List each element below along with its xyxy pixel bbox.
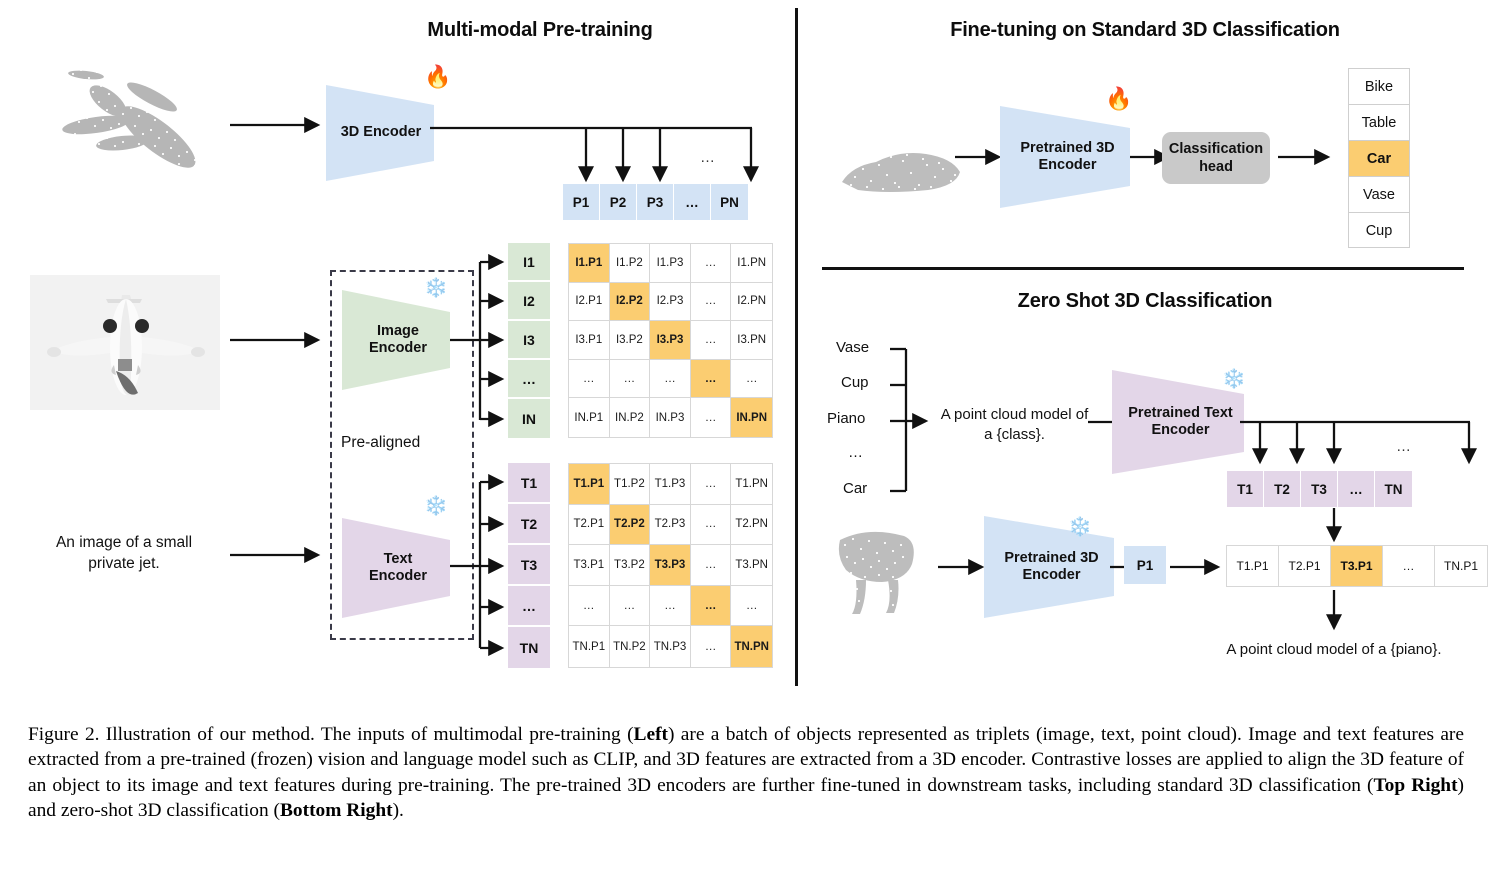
zs-class-name[interactable]: Vase	[836, 338, 869, 358]
class-list-item[interactable]: Table	[1349, 105, 1409, 141]
fire-icon-finetune: 🔥	[1105, 88, 1132, 110]
input-text-caption: An image of a small private jet.	[24, 533, 224, 575]
text-point-sim-cell: T2.PN	[731, 505, 772, 546]
zs-text-token[interactable]: T1	[1227, 471, 1264, 507]
zs-arrow-to-result	[1322, 590, 1346, 634]
text-point-sim-cell: …	[691, 626, 732, 667]
tr-arrow-3	[1278, 145, 1336, 169]
text-point-sim-cell: …	[691, 505, 732, 546]
panel-title-left: Multi-modal Pre-training	[290, 19, 790, 42]
text-point-sim-cell: T1.P1	[569, 464, 610, 505]
text-label[interactable]: TN	[508, 627, 550, 668]
image-label[interactable]: I2	[508, 282, 550, 321]
zs-score-row: T1.P1T2.P1T3.P1…TN.P1	[1226, 545, 1488, 587]
airplane-render-image	[30, 275, 220, 410]
encoder-text-label: Text Encoder	[369, 551, 427, 586]
image-point-sim-cell: IN.P3	[650, 398, 691, 437]
panel-title-bottom-right: Zero Shot 3D Classification	[850, 290, 1440, 313]
zs-arrow-tokens-to-scores	[1322, 508, 1346, 546]
image-point-sim-cell: IN.PN	[731, 398, 772, 437]
pretrained-3d-encoder-finetune-label: Pretrained 3D Encoder	[1020, 140, 1114, 175]
zs-prompt-template: A point cloud model of a {class}.	[927, 405, 1102, 446]
text-point-sim-cell: …	[731, 586, 772, 627]
image-point-sim-cell: IN.P2	[610, 398, 651, 437]
image-label[interactable]: I1	[508, 243, 550, 282]
image-point-sim-cell: I2.PN	[731, 283, 772, 322]
text-point-sim-cell: T1.PN	[731, 464, 772, 505]
zs-text-token[interactable]: …	[1338, 471, 1375, 507]
image-label[interactable]: IN	[508, 399, 550, 438]
piano-point-cloud	[826, 518, 936, 623]
zs-arrow-to-scores	[1168, 555, 1226, 579]
image-point-sim-cell: …	[650, 360, 691, 399]
text-label[interactable]: T1	[508, 463, 550, 504]
figure-caption: Figure 2. Illustration of our method. Th…	[28, 722, 1464, 823]
zs-result-text: A point cloud model of a {piano}.	[1174, 640, 1490, 660]
point-token[interactable]: P3	[637, 184, 674, 220]
text-point-similarity-matrix: T1.P1T1.P2T1.P3…T1.PNT2.P1T2.P2T2.P3…T2.…	[568, 463, 773, 668]
zs-arrow-pc	[938, 555, 990, 579]
point-token-row: P1 P2 P3 … PN	[563, 184, 748, 220]
text-point-sim-cell: …	[569, 586, 610, 627]
zs-text-token[interactable]: TN	[1375, 471, 1412, 507]
text-point-sim-cell: T2.P2	[610, 505, 651, 546]
text-label[interactable]: T2	[508, 504, 550, 545]
text-point-sim-cell: …	[691, 464, 732, 505]
zs-class-name[interactable]: Piano	[827, 409, 865, 429]
text-point-sim-cell: T2.P1	[569, 505, 610, 546]
class-prediction-list: BikeTableCarVaseCup	[1348, 68, 1410, 248]
text-point-sim-cell: T3.PN	[731, 545, 772, 586]
zs-class-name[interactable]: Cup	[841, 373, 869, 393]
image-point-sim-cell: I1.P1	[569, 244, 610, 283]
image-point-sim-cell: I1.PN	[731, 244, 772, 283]
snowflake-icon-image-encoder: ❄️	[424, 279, 448, 298]
text-point-sim-cell: …	[610, 586, 651, 627]
text-point-sim-cell: T3.P1	[569, 545, 610, 586]
zs-text-token[interactable]: T3	[1301, 471, 1338, 507]
encoder-image-label: Image Encoder	[369, 323, 427, 358]
text-point-sim-cell: T1.P3	[650, 464, 691, 505]
image-point-sim-cell: …	[691, 398, 732, 437]
text-point-sim-cell: T1.P2	[610, 464, 651, 505]
encoder-3d[interactable]: 3D Encoder	[326, 85, 440, 181]
image-point-sim-cell: …	[610, 360, 651, 399]
caption-bold-top-right: Top Right	[1374, 775, 1458, 796]
zs-score-cell: T2.P1	[1279, 546, 1331, 586]
image-point-sim-cell: I2.P2	[610, 283, 651, 322]
encoder-image[interactable]: Image Encoder	[342, 290, 458, 390]
horizontal-divider	[822, 267, 1464, 270]
class-list-item[interactable]: Bike	[1349, 69, 1409, 105]
text-point-sim-cell: TN.P3	[650, 626, 691, 667]
zs-score-cell: T1.P1	[1227, 546, 1279, 586]
class-list-item[interactable]: Vase	[1349, 177, 1409, 213]
text-label[interactable]: T3	[508, 545, 550, 586]
zs-point-token-p1[interactable]: P1	[1124, 546, 1166, 584]
caption-bold-left: Left	[634, 724, 668, 745]
text-label-fanout	[450, 462, 512, 658]
image-point-sim-cell: …	[691, 360, 732, 399]
point-token[interactable]: P1	[563, 184, 600, 220]
zs-bus-ellipsis: …	[1396, 437, 1411, 457]
image-label[interactable]: …	[508, 360, 550, 399]
point-token[interactable]: PN	[711, 184, 748, 220]
image-point-sim-cell: …	[731, 360, 772, 399]
image-point-sim-cell: …	[691, 283, 732, 322]
zs-text-token-bus	[1240, 410, 1480, 474]
fire-icon-3d-encoder: 🔥	[424, 66, 451, 88]
figure-root: Multi-modal Pre-training Fine-tuning on …	[0, 0, 1490, 888]
zs-score-cell: TN.P1	[1435, 546, 1487, 586]
image-point-sim-cell: I3.P3	[650, 321, 691, 360]
zs-score-cell: T3.P1	[1331, 546, 1383, 586]
caption-seg-1: Figure 2. Illustration of our method. Th…	[28, 724, 634, 745]
image-point-sim-cell: I1.P3	[650, 244, 691, 283]
panel-title-top-right: Fine-tuning on Standard 3D Classificatio…	[850, 19, 1440, 42]
airplane-point-cloud	[30, 45, 260, 205]
text-point-sim-cell: …	[691, 586, 732, 627]
car-point-cloud	[830, 130, 970, 210]
text-point-sim-cell: TN.PN	[731, 626, 772, 667]
text-point-sim-cell: TN.P2	[610, 626, 651, 667]
encoder-text[interactable]: Text Encoder	[342, 518, 458, 618]
text-point-sim-cell: T3.P3	[650, 545, 691, 586]
point-token[interactable]: P2	[600, 184, 637, 220]
image-point-sim-cell: IN.P1	[569, 398, 610, 437]
zs-class-name: …	[848, 443, 863, 463]
pretrained-text-encoder-label: Pretrained Text Encoder	[1128, 405, 1233, 440]
text-point-sim-cell: …	[650, 586, 691, 627]
text-point-sim-cell: T2.P3	[650, 505, 691, 546]
image-point-sim-cell: I3.PN	[731, 321, 772, 360]
class-list-item[interactable]: Car	[1349, 141, 1409, 177]
image-point-sim-cell: …	[691, 244, 732, 283]
caption-bold-bottom-right: Bottom Right	[280, 800, 393, 821]
point-bus-ellipsis: …	[700, 148, 715, 168]
classification-head[interactable]: Classification head	[1162, 132, 1270, 184]
image-point-sim-cell: I2.P1	[569, 283, 610, 322]
image-point-sim-cell: …	[569, 360, 610, 399]
text-label-stack: T1 T2 T3 … TN	[508, 463, 550, 668]
text-label[interactable]: …	[508, 586, 550, 627]
image-point-sim-cell: I3.P2	[610, 321, 651, 360]
text-point-sim-cell: T3.P2	[610, 545, 651, 586]
image-point-sim-cell: I2.P3	[650, 283, 691, 322]
snowflake-icon-text-encoder-zs: ❄️	[1222, 370, 1246, 389]
snowflake-icon-text-encoder: ❄️	[424, 497, 448, 516]
text-point-sim-cell: …	[691, 545, 732, 586]
image-point-sim-cell: I1.P2	[610, 244, 651, 283]
image-point-sim-cell: …	[691, 321, 732, 360]
zs-score-cell: …	[1383, 546, 1435, 586]
input-arrows	[228, 60, 338, 580]
class-list-item[interactable]: Cup	[1349, 213, 1409, 249]
caption-seg-4: ).	[393, 800, 404, 821]
zs-class-name[interactable]: Car	[843, 479, 867, 499]
prealigned-label: Pre-aligned	[341, 433, 420, 454]
image-label-fanout	[450, 252, 512, 438]
image-point-similarity-matrix: I1.P1I1.P2I1.P3…I1.PNI2.P1I2.P2I2.P3…I2.…	[568, 243, 773, 438]
zs-text-token[interactable]: T2	[1264, 471, 1301, 507]
image-point-sim-cell: I3.P1	[569, 321, 610, 360]
vertical-divider	[795, 8, 798, 686]
pretrained-3d-encoder-finetune[interactable]: Pretrained 3D Encoder	[1000, 106, 1140, 208]
pretrained-3d-encoder-zeroshot[interactable]: Pretrained 3D Encoder	[984, 516, 1124, 618]
text-point-sim-cell: TN.P1	[569, 626, 610, 667]
pretrained-3d-encoder-zeroshot-label: Pretrained 3D Encoder	[1004, 550, 1098, 585]
zs-text-token-row: T1 T2 T3 … TN	[1227, 471, 1412, 507]
image-label[interactable]: I3	[508, 321, 550, 360]
encoder-3d-label: 3D Encoder	[341, 124, 422, 141]
snowflake-icon-3d-encoder-zs: ❄️	[1068, 518, 1092, 537]
point-token[interactable]: …	[674, 184, 711, 220]
image-label-stack: I1 I2 I3 … IN	[508, 243, 550, 438]
